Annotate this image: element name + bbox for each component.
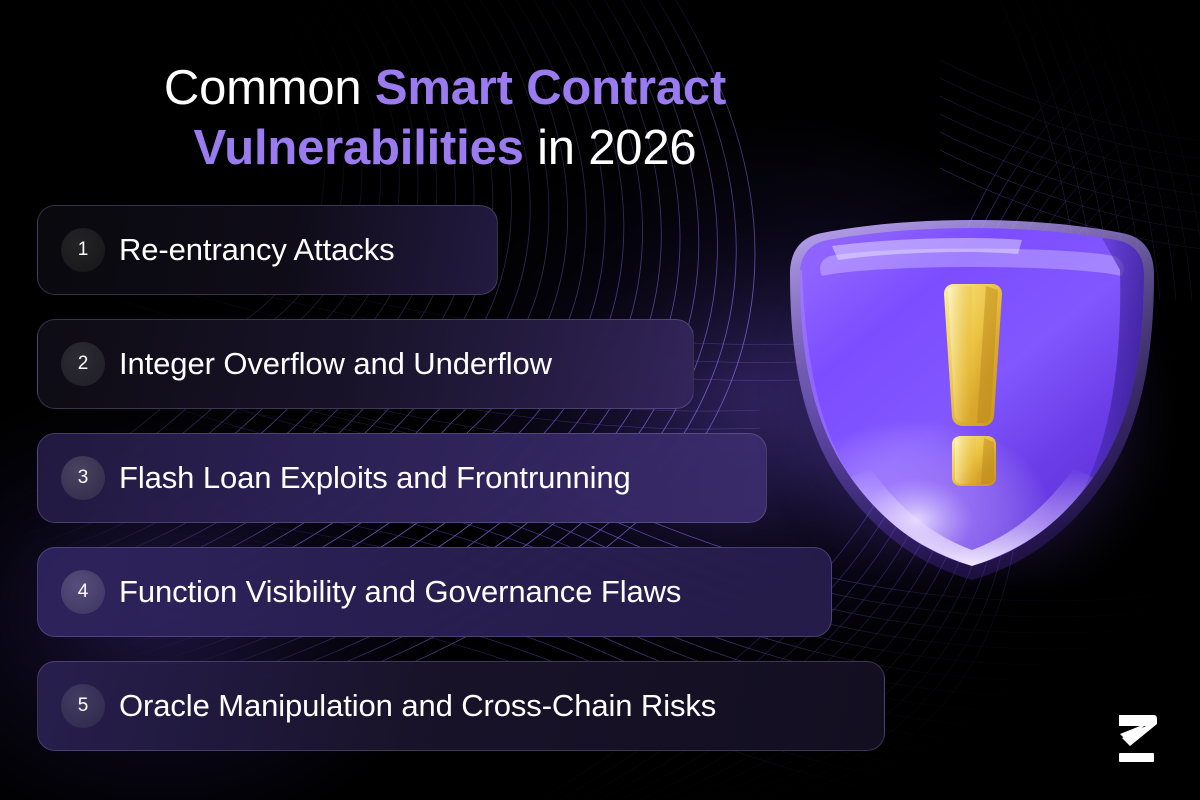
list-item-label: Flash Loan Exploits and Frontrunning — [119, 460, 631, 496]
title-part-year: in 2026 — [524, 121, 697, 175]
list-item-number-badge: 4 — [61, 570, 105, 614]
list-item-label: Function Visibility and Governance Flaws — [119, 574, 681, 610]
list-item-number-badge: 1 — [61, 228, 105, 272]
shield-warning-icon — [772, 210, 1172, 580]
list-item-label: Oracle Manipulation and Cross-Chain Risk… — [119, 688, 716, 724]
list-item-label: Re-entrancy Attacks — [119, 232, 395, 268]
list-item-label: Integer Overflow and Underflow — [119, 346, 552, 382]
list-item-number-badge: 5 — [61, 684, 105, 728]
page-title: Common Smart Contract Vulnerabilities in… — [0, 58, 1200, 178]
list-item[interactable]: 3 Flash Loan Exploits and Frontrunning — [37, 433, 767, 523]
list-item-number-badge: 3 — [61, 456, 105, 500]
list-item[interactable]: 2 Integer Overflow and Underflow — [37, 319, 694, 409]
list-item-number-badge: 2 — [61, 342, 105, 386]
brand-logo[interactable] — [1116, 710, 1168, 768]
title-part-smart-contract: Smart Contract — [375, 61, 726, 115]
title-line-1: Common Smart Contract — [0, 58, 890, 118]
title-part-common: Common — [164, 61, 375, 115]
logo-bar — [1119, 753, 1154, 762]
title-part-vulnerabilities: Vulnerabilities — [194, 121, 524, 175]
list-item[interactable]: 5 Oracle Manipulation and Cross-Chain Ri… — [37, 661, 885, 751]
list-item[interactable]: 1 Re-entrancy Attacks — [37, 205, 498, 295]
infographic-canvas: Common Smart Contract Vulnerabilities in… — [0, 0, 1200, 800]
list-item[interactable]: 4 Function Visibility and Governance Fla… — [37, 547, 832, 637]
title-line-2: Vulnerabilities in 2026 — [0, 118, 890, 178]
